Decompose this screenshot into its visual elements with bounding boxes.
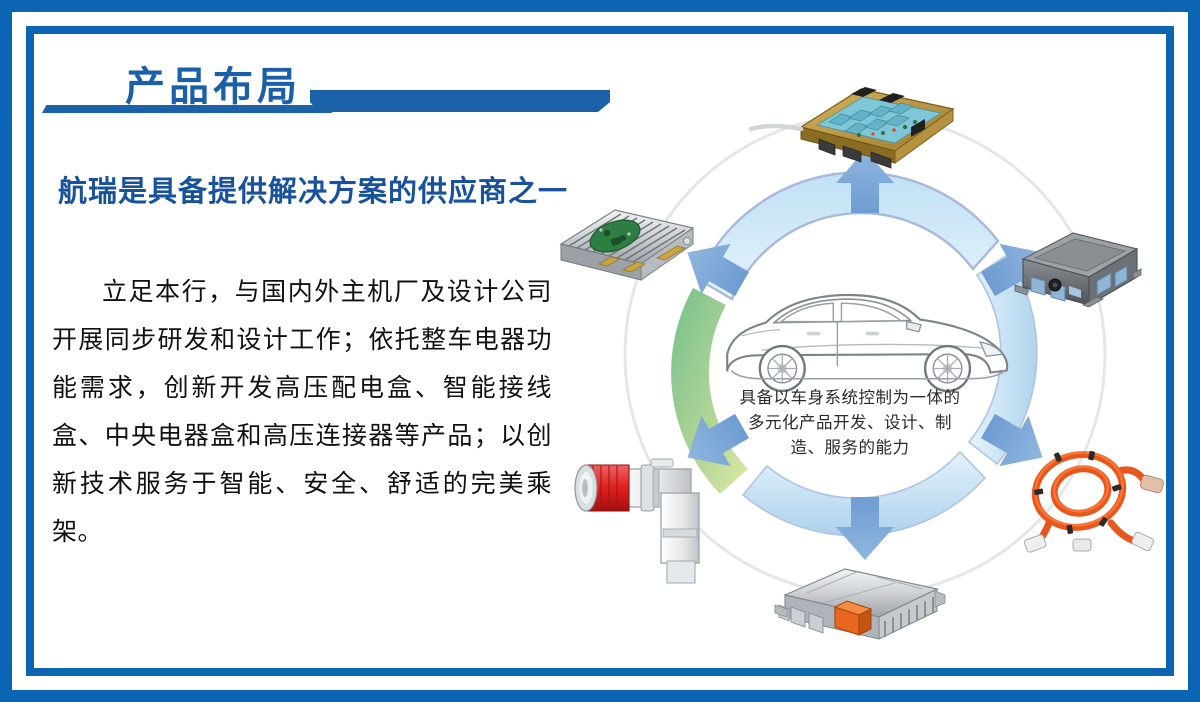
product-cycle-diagram: 具备以车身系统控制为一体的多元化产品开发、设计、制造、服务的能力 bbox=[545, 55, 1185, 655]
product-hv-right-angle-connector bbox=[575, 459, 699, 583]
slide-root: 产品布局 航瑞是具备提供解决方案的供应商之一 立足本行，与国内外主机厂及设计公司… bbox=[0, 0, 1200, 702]
page-title: 产品布局 bbox=[125, 54, 301, 112]
sedan-car-outline bbox=[727, 295, 1007, 391]
body-paragraph: 立足本行，与国内外主机厂及设计公司开展同步研发和设计工作；依托整车电器功能需求，… bbox=[52, 268, 552, 556]
product-gray-junction-box bbox=[1015, 233, 1141, 307]
title-bar-thick bbox=[310, 90, 610, 112]
product-orange-hv-cable-harness bbox=[1024, 445, 1165, 553]
subheading: 航瑞是具备提供解决方案的供应商之一 bbox=[58, 168, 568, 210]
product-aluminum-power-distribution-box bbox=[775, 569, 945, 639]
ring-arc-green bbox=[671, 288, 748, 494]
product-finned-heatsink-controller bbox=[561, 210, 693, 280]
title-banner: 产品布局 bbox=[60, 58, 620, 120]
product-fuse-relay-pcb-module bbox=[751, 87, 953, 168]
